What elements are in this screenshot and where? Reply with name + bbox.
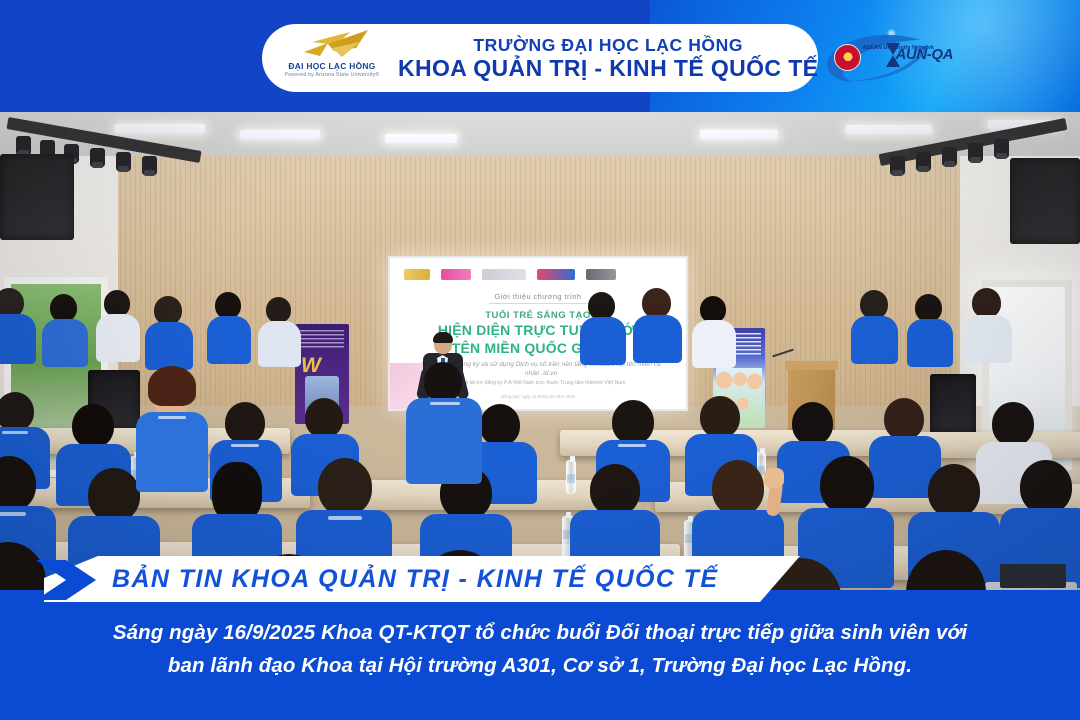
stage-spotlight-icon bbox=[116, 152, 131, 171]
header-band: ĐẠI HỌC LẠC HỒNG Powered by Arizona Stat… bbox=[0, 0, 1080, 112]
header-logo-pill: ĐẠI HỌC LẠC HỒNG Powered by Arizona Stat… bbox=[262, 24, 818, 92]
ceiling-light bbox=[700, 130, 778, 139]
caption-text: Sáng ngày 16/9/2025 Khoa QT-KTQT tổ chức… bbox=[0, 616, 1080, 682]
ceiling-light bbox=[385, 134, 457, 143]
flying-bird-logo-icon bbox=[298, 30, 370, 60]
slide-kicker-text: Giới thiệu chương trình bbox=[489, 292, 586, 304]
stage-spotlight-icon bbox=[942, 147, 957, 166]
ceiling-light bbox=[846, 125, 932, 134]
stage-spotlight-icon bbox=[968, 143, 983, 162]
header-faculty-title: KHOA QUẢN TRỊ - KINH TẾ QUỐC TẾ bbox=[398, 55, 818, 82]
sponsor-logo-icon bbox=[586, 269, 616, 280]
stage-spotlight-icon bbox=[142, 156, 157, 175]
water-bottle bbox=[566, 460, 576, 494]
hanging-speaker bbox=[1010, 158, 1080, 244]
raised-hand bbox=[764, 468, 784, 488]
hanging-speaker bbox=[0, 154, 74, 240]
news-poster: ĐẠI HỌC LẠC HỒNG Powered by Arizona Stat… bbox=[0, 0, 1080, 720]
standee-logo-icon: W bbox=[301, 354, 321, 378]
event-photo: W Giới thiệu chương trình TUỔI TRẺ SÁNG … bbox=[0, 112, 1080, 590]
caption-line-1: Sáng ngày 16/9/2025 Khoa QT-KTQT tổ chức… bbox=[36, 616, 1044, 649]
slide-sponsor-logos bbox=[404, 266, 676, 282]
aun-qa-logo: ASEAN University Network AUN-QA bbox=[824, 30, 936, 86]
aun-qa-label: AUN-QA bbox=[895, 46, 953, 63]
stage-spotlight-icon bbox=[16, 136, 31, 155]
header-titles: TRƯỜNG ĐẠI HỌC LẠC HỒNG KHOA QUẢN TRỊ - … bbox=[396, 35, 824, 82]
sponsor-logo-icon bbox=[441, 269, 471, 280]
stage-spotlight-icon bbox=[890, 156, 905, 175]
header-university-title: TRƯỜNG ĐẠI HỌC LẠC HỒNG bbox=[398, 35, 818, 55]
logo-university-subtitle: Powered by Arizona State University® bbox=[268, 72, 396, 78]
ceiling-light bbox=[240, 130, 320, 139]
presenter-hair bbox=[433, 332, 453, 343]
news-ribbon-text: BẢN TIN KHOA QUẢN TRỊ - KINH TẾ QUỐC TẾ bbox=[112, 565, 718, 594]
stage-spotlight-icon bbox=[916, 152, 931, 171]
stage-spotlight-icon bbox=[90, 148, 105, 167]
sponsor-logo-icon bbox=[404, 269, 430, 280]
laptop-screen bbox=[1000, 564, 1066, 588]
stage-spotlight-icon bbox=[994, 139, 1009, 158]
standee-text-lines bbox=[300, 330, 344, 348]
logo-university-name: ĐẠI HỌC LẠC HỒNG bbox=[268, 61, 396, 71]
news-ribbon: BẢN TIN KHOA QUẢN TRỊ - KINH TẾ QUỐC TẾ bbox=[44, 556, 800, 602]
vnnic-logo-icon bbox=[537, 269, 575, 280]
lac-hong-university-logo: ĐẠI HỌC LẠC HỒNG Powered by Arizona Stat… bbox=[268, 27, 396, 89]
ceiling-light bbox=[115, 124, 205, 133]
floor-speaker bbox=[930, 374, 976, 434]
sponsor-logo-icon bbox=[482, 269, 526, 280]
caption-line-2: ban lãnh đạo Khoa tại Hội trường A301, C… bbox=[36, 649, 1044, 682]
